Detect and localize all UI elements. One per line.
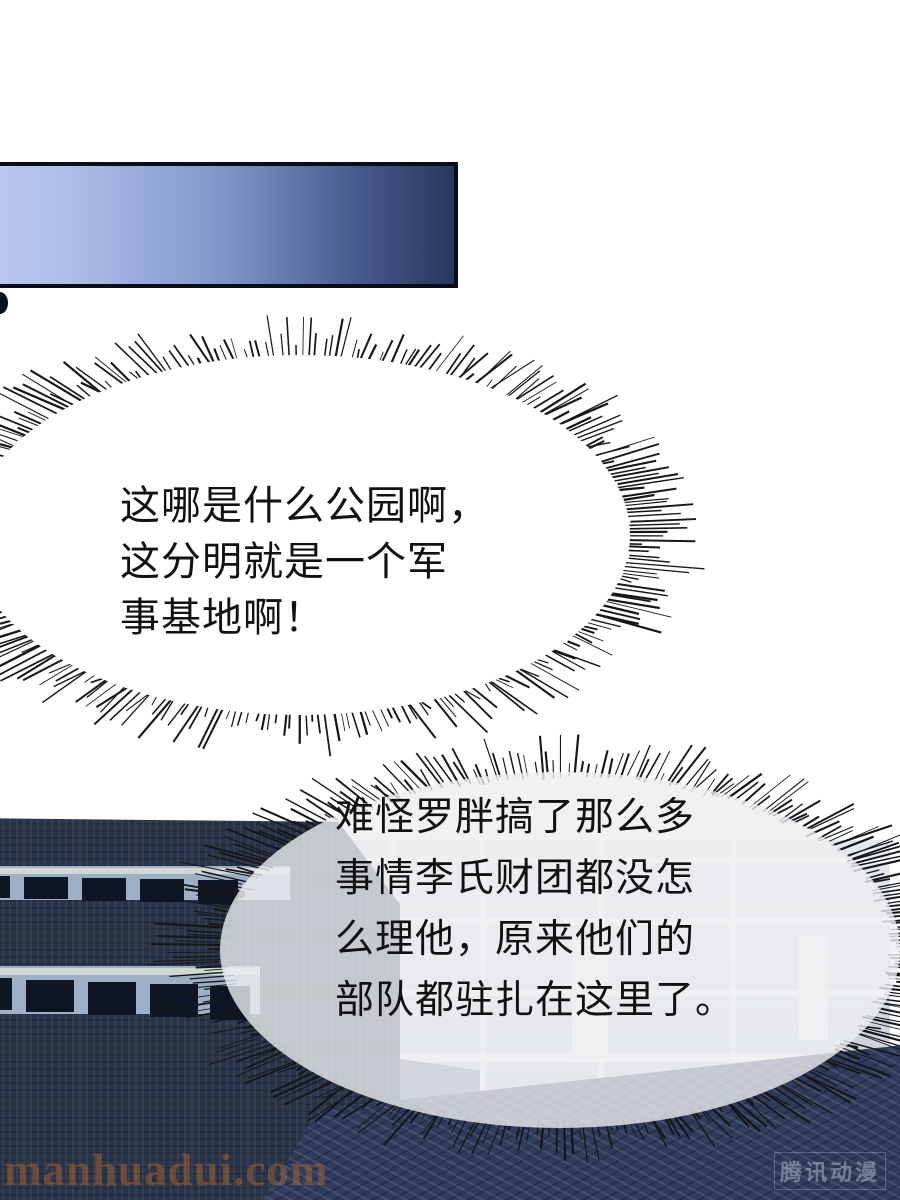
watermark-right: 腾讯动漫 (774, 1152, 886, 1190)
bubble-1-text: 这哪是什么公园啊，这分明就是一个军事基地啊！ (120, 478, 489, 646)
comic-panel: 这哪是什么公园啊，这分明就是一个军事基地啊！ 难怪罗胖搞了那么多事情李氏财团都没… (0, 0, 900, 1200)
blue-gradient-bar (0, 162, 458, 288)
watermark-left: manhuadui.com (4, 1144, 328, 1196)
speech-bubble-1: 这哪是什么公园啊，这分明就是一个军事基地啊！ (0, 300, 720, 770)
bubble-2-text: 难怪罗胖搞了那么多事情李氏财团都没怎么理他，原来他们的部队都驻扎在这里了。 (335, 787, 735, 1031)
speech-bubble-2: 难怪罗胖搞了那么多事情李氏财团都没怎么理他，原来他们的部队都驻扎在这里了。 (170, 745, 900, 1200)
